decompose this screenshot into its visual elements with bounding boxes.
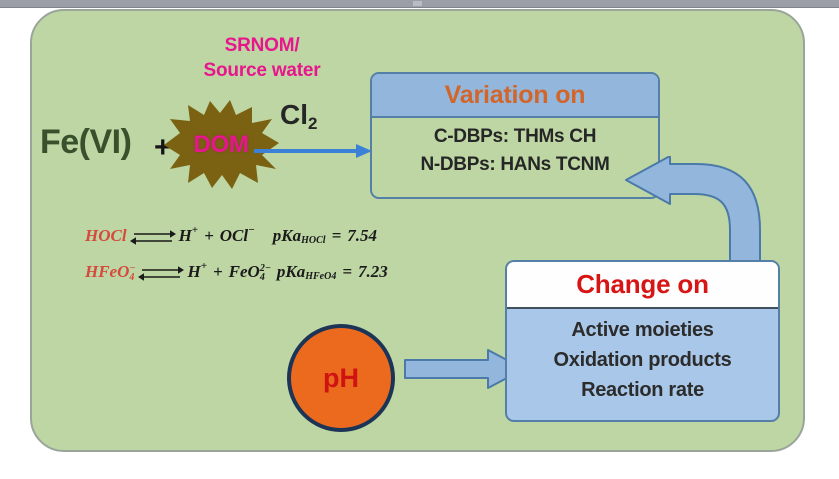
chlorination-arrow-icon xyxy=(254,144,372,158)
pka-value-hocl: 7.54 xyxy=(347,226,377,246)
variation-on-title: Variation on xyxy=(372,74,658,118)
graphical-abstract-panel: SRNOM/ Source water Fe(VI) + DOM Cl2 Var… xyxy=(30,9,805,452)
change-line-oxidation-products: Oxidation products xyxy=(507,345,778,375)
change-on-body: Active moieties Oxidation products React… xyxy=(507,309,778,405)
hypochlorite-product: OCl xyxy=(220,226,248,246)
change-on-title: Change on xyxy=(507,262,778,309)
pka-equals-hocl: = xyxy=(332,226,342,246)
variation-on-box: Variation on C-DBPs: THMs CH N-DBPs: HAN… xyxy=(370,72,660,199)
ferrate-product: FeO xyxy=(229,262,260,282)
hfeo4-reactant: HFeO xyxy=(85,262,129,282)
equilibrium-arrow-icon xyxy=(138,264,184,282)
ferrate-product-subscript: 4 xyxy=(260,273,271,282)
hfeo4-reactant-charges: −4 xyxy=(129,264,135,282)
hocl-reactant: HOCl xyxy=(85,226,127,246)
hfeo4-reactant-subscript: 4 xyxy=(129,273,135,282)
equation-hfeo4: HFeO−4 H+ + FeO2−4 pKaHFeO4 = 7.23 xyxy=(85,254,505,290)
hfeo4-product-hydrogen: H xyxy=(187,262,200,282)
pka-label-hfeo4: pKa xyxy=(277,262,305,282)
source-label-line-2: Source water xyxy=(132,58,392,83)
ferrate-label: Fe(VI) xyxy=(40,123,131,162)
ph-node: pH xyxy=(287,324,395,432)
change-line-active-moieties: Active moieties xyxy=(507,315,778,345)
hydrogen-charge: + xyxy=(201,260,207,272)
pka-label-hocl: pKa xyxy=(273,226,301,246)
equation-hocl: HOCl H+ + OCl− pKaHOCl = 7.54 xyxy=(85,218,505,254)
chlorine-label: Cl2 xyxy=(280,99,317,131)
hocl-product-hydrogen: H xyxy=(179,226,192,246)
change-on-box: Change on Active moieties Oxidation prod… xyxy=(505,260,780,422)
chlorine-subscript: 2 xyxy=(308,114,317,133)
variation-line-c-dbps: C-DBPs: THMs CH xyxy=(372,123,658,151)
ph-label: pH xyxy=(323,363,359,394)
source-label-line-1: SRNOM/ xyxy=(132,33,392,58)
change-to-variation-arrow-icon xyxy=(624,156,784,274)
pka-subscript-hocl: HOCl xyxy=(301,235,325,246)
pka-equals-hfeo4: = xyxy=(342,262,352,282)
equation-plus: + xyxy=(204,226,214,246)
hydrogen-charge: + xyxy=(192,224,198,236)
pka-value-hfeo4: 7.23 xyxy=(358,262,388,282)
ferrate-product-charges: 2−4 xyxy=(260,264,271,282)
source-water-label: SRNOM/ Source water xyxy=(132,33,392,83)
window-title-bar xyxy=(0,0,839,8)
equilibrium-arrow-icon xyxy=(130,228,176,246)
variation-on-body: C-DBPs: THMs CH N-DBPs: HANs TCNM xyxy=(372,118,658,179)
chlorine-symbol: Cl xyxy=(280,99,308,130)
change-line-reaction-rate: Reaction rate xyxy=(507,375,778,405)
equation-plus: + xyxy=(213,262,223,282)
title-bar-grip xyxy=(413,1,422,6)
pka-subscript-hfeo4: HFeO4 xyxy=(305,271,336,282)
variation-line-n-dbps: N-DBPs: HANs TCNM xyxy=(372,151,658,179)
equilibrium-equations: HOCl H+ + OCl− pKaHOCl = 7.54 HFeO−4 xyxy=(85,218,505,290)
hypochlorite-charge: − xyxy=(248,224,255,236)
